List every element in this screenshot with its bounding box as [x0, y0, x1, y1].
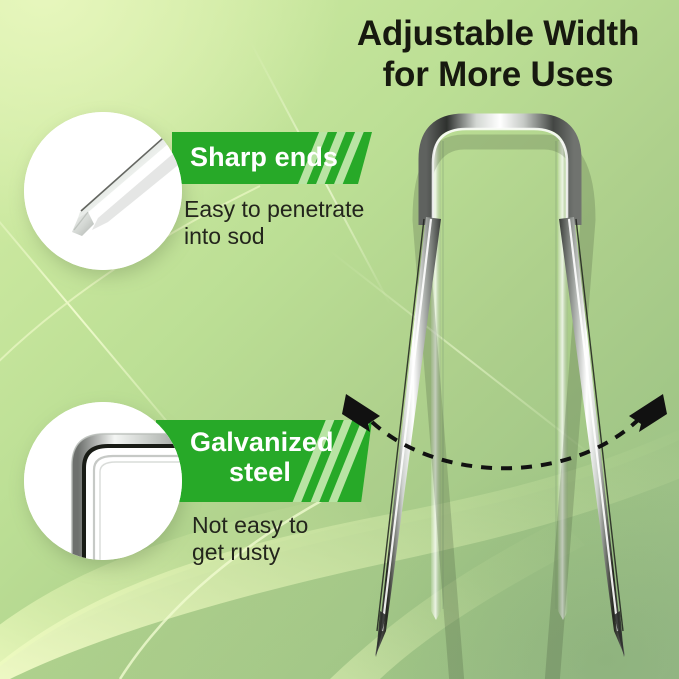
page-title: Adjustable Width for More Uses — [333, 14, 663, 95]
circle-photo-galvanized-bend — [24, 402, 182, 560]
product-infographic: Adjustable Width for More Uses — [0, 0, 679, 679]
feature-sharp-ends: Sharp ends — [6, 104, 386, 274]
feature-description-sharp-ends: Easy to penetrate into sod — [184, 196, 384, 249]
banner-label-steel: steel — [190, 458, 330, 486]
circle-photo-sharp-pin-tip — [24, 112, 182, 270]
page-title-line-1: Adjustable Width — [333, 14, 663, 55]
adjustable-width-arrows — [330, 380, 679, 500]
page-title-line-2: for More Uses — [333, 55, 663, 96]
feature-galvanized-steel: Galvanized steel — [6, 394, 386, 594]
feature-description-galvanized-steel: Not easy to get rusty — [192, 512, 392, 565]
banner-label-sharp-ends: Sharp ends — [190, 143, 372, 171]
banner-sharp-ends: Sharp ends — [172, 132, 372, 184]
